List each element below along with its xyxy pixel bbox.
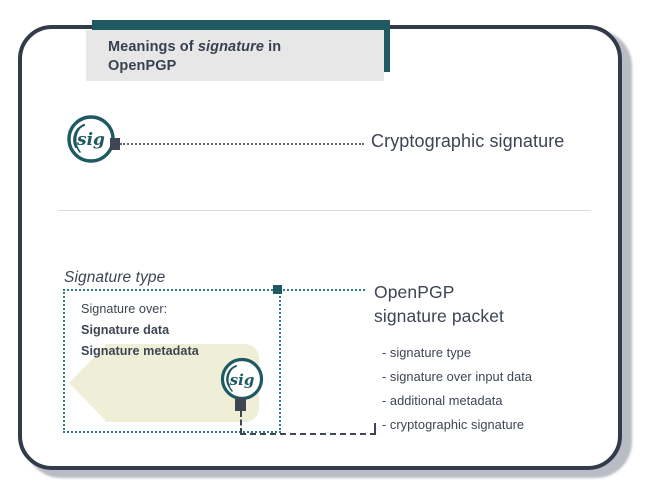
svg-text:sig: sig: [230, 371, 255, 389]
seal-connector-tab-secondary: [235, 398, 246, 411]
box-line-signature-data: Signature data: [81, 323, 169, 337]
packet-connector-line: [283, 289, 365, 291]
section-divider: [58, 210, 591, 211]
title-prefix: Meanings of: [108, 39, 198, 55]
list-item: - additional metadata: [382, 389, 532, 413]
packet-title: OpenPGP signature packet: [374, 280, 504, 328]
box-line-signature-over: Signature over:: [81, 302, 167, 316]
list-item: - cryptographic signature: [382, 413, 532, 437]
crypto-sig-connector-vertical: [240, 411, 242, 434]
title-suffix: in: [264, 39, 281, 55]
signature-seal-icon: sig: [66, 114, 116, 164]
svg-text:sig: sig: [76, 130, 105, 150]
page-title: Meanings of signature inOpenPGP: [108, 38, 358, 75]
title-line2: OpenPGP: [108, 58, 176, 74]
title-panel: Meanings of signature inOpenPGP: [86, 30, 384, 81]
seal-connector-tab: [110, 138, 120, 150]
packet-title-line2: signature packet: [374, 306, 504, 326]
crypto-sig-connector-horizontal: [240, 433, 376, 435]
box-line-signature-metadata: Signature metadata: [81, 344, 199, 358]
list-item: - signature type: [382, 341, 532, 365]
packet-field-list: - signature type - signature over input …: [382, 341, 532, 437]
crypto-sig-connector-tick: [374, 423, 376, 434]
packet-title-line1: OpenPGP: [374, 282, 454, 302]
packet-connector-marker: [273, 285, 282, 294]
list-item: - signature over input data: [382, 365, 532, 389]
crypto-connector-line: [120, 143, 364, 145]
signature-type-heading: Signature type: [64, 269, 165, 287]
title-emphasis: signature: [198, 39, 264, 55]
signature-seal-icon-secondary: sig: [220, 356, 264, 404]
cryptographic-signature-label: Cryptographic signature: [371, 131, 564, 152]
diagram-canvas: Meanings of signature inOpenPGP sig Cryp…: [0, 0, 650, 501]
